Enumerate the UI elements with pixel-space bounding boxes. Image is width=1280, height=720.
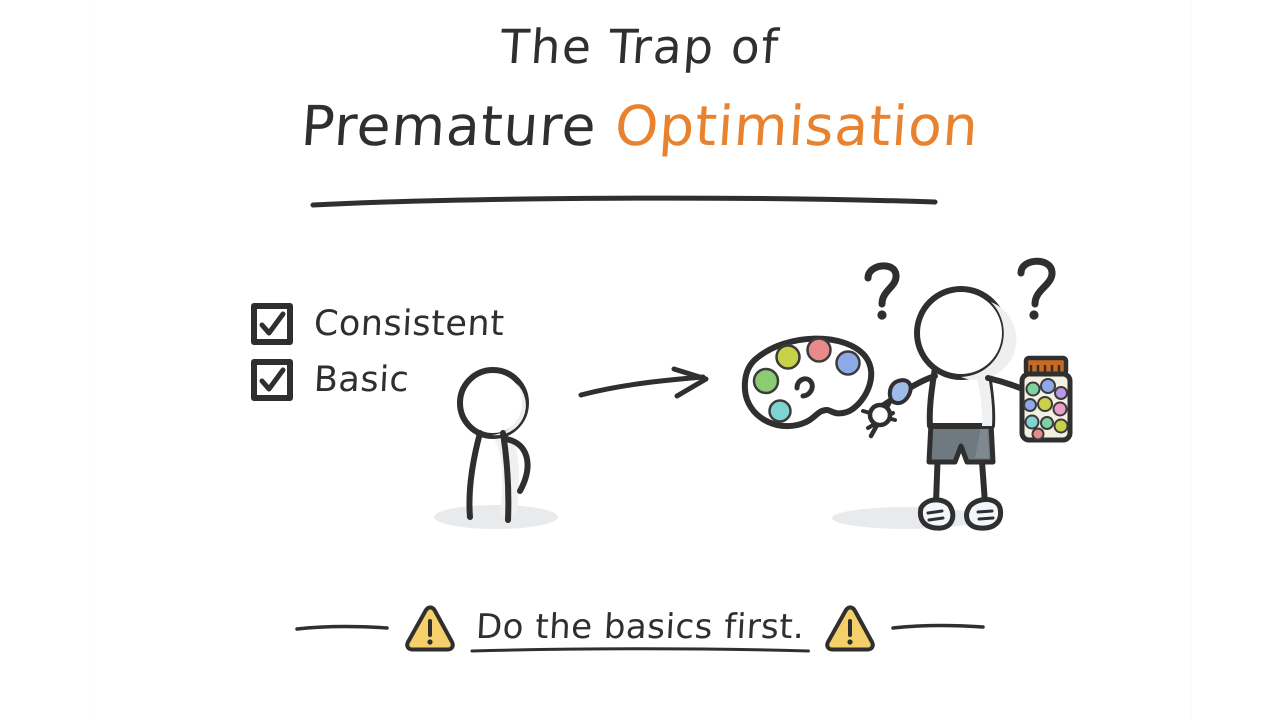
title-line-two: Premature Optimisation (0, 99, 1280, 154)
title-underline (310, 192, 938, 212)
paint-blob (770, 401, 791, 422)
caption-text: Do the basics first. (475, 609, 805, 646)
paint-blob (777, 346, 800, 369)
figure-shadow (434, 505, 558, 529)
paint-palette-icon (745, 339, 871, 427)
checklist-label: Consistent (313, 304, 505, 344)
warning-triangle-icon (404, 604, 456, 652)
page-title: The Trap of Premature Optimisation (0, 24, 1280, 154)
overdecorating-stick-figure (735, 248, 1080, 543)
hand (870, 405, 890, 425)
checklist-item-consistent[interactable]: Consistent (250, 296, 504, 352)
dash-rule (890, 621, 986, 635)
question-mark-icon (868, 266, 896, 320)
paint-blob (837, 352, 860, 375)
caption-underline (470, 647, 810, 655)
caption-row: Do the basics first. (0, 604, 1280, 652)
slide-canvas: The Trap of Premature Optimisation Consi… (0, 0, 1280, 720)
warning-triangle-icon (824, 604, 876, 652)
figure-shadow (832, 507, 982, 529)
caption-text-wrap: Do the basics first. (470, 609, 810, 646)
checkbox-checked-icon[interactable] (250, 358, 294, 402)
paint-blob (808, 339, 831, 362)
paint-blob (754, 369, 778, 393)
title-word-premature: Premature (299, 94, 599, 158)
question-mark-icon (1021, 261, 1052, 319)
dash-rule (294, 621, 390, 635)
plain-stick-figure (420, 365, 580, 535)
title-line-one: The Trap of (0, 24, 1280, 71)
right-arrow-icon (575, 360, 725, 415)
checkbox-checked-icon[interactable] (250, 302, 294, 346)
shoe (967, 499, 1001, 528)
shoe (920, 500, 952, 528)
pill-bottle-icon (1022, 358, 1070, 440)
checklist-label: Basic (313, 360, 410, 400)
title-word-optimisation: Optimisation (613, 94, 981, 158)
